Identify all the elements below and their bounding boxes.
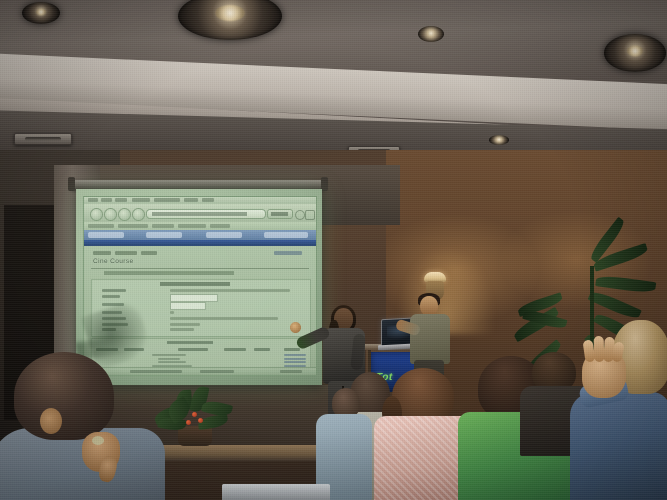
table-column-header[interactable] (284, 348, 300, 351)
foreground-right-hand (582, 350, 626, 398)
presenter-hand (290, 322, 301, 333)
form-value (170, 311, 174, 314)
foreground-man-hair (14, 352, 114, 440)
form-value (170, 323, 200, 326)
plant-pot (178, 426, 212, 446)
search-icon[interactable] (295, 210, 305, 220)
conference-room-photo: Cine Course (0, 0, 667, 500)
form-value (170, 289, 290, 292)
tab-administration[interactable] (264, 232, 308, 238)
operator-head (420, 296, 438, 316)
title-divider (91, 268, 309, 269)
row-action-link[interactable] (284, 361, 306, 363)
row-action-link[interactable] (284, 354, 306, 356)
table-title (167, 341, 213, 344)
foreground-man-ear (40, 408, 62, 434)
denim-jacket (570, 392, 667, 500)
row-action-link[interactable] (284, 358, 306, 360)
screen-roller-housing (72, 180, 324, 189)
address-bar[interactable] (146, 209, 266, 219)
form-label (102, 295, 120, 298)
form-input[interactable] (170, 302, 206, 310)
form-label (102, 289, 126, 292)
audience-member-blue-shirt (332, 388, 372, 500)
home-icon[interactable] (132, 208, 145, 221)
finger (611, 341, 624, 362)
ceiling-spot-light-1 (418, 26, 444, 42)
breadcrumb[interactable] (93, 251, 111, 255)
page-title: Cine Course (93, 258, 134, 265)
operator-torso (410, 314, 450, 364)
form-input[interactable] (170, 294, 218, 302)
plant-berry (198, 418, 203, 423)
print-icon[interactable] (305, 210, 315, 220)
audience-laptop[interactable] (222, 484, 330, 500)
form-value (170, 317, 278, 320)
plant-berry (186, 420, 191, 425)
table-column-header[interactable] (254, 348, 270, 351)
form-value (170, 328, 194, 331)
forward-icon[interactable] (104, 208, 117, 221)
back-icon[interactable] (90, 208, 103, 221)
search-button[interactable] (267, 209, 293, 219)
browser-navbar[interactable] (84, 204, 316, 223)
table-column-header[interactable] (224, 348, 246, 351)
breadcrumb-2[interactable] (115, 251, 137, 255)
foreground-man (0, 352, 180, 500)
ceiling-can-light-3 (604, 34, 666, 72)
tab-enrolment[interactable] (146, 232, 182, 238)
glasses-icon (92, 436, 104, 445)
palm-frond (595, 274, 656, 294)
reload-icon[interactable] (118, 208, 131, 221)
foreground-right-person (572, 320, 667, 500)
tab-reports[interactable] (206, 232, 242, 238)
plant-berry (192, 412, 197, 417)
page-user-link[interactable] (274, 251, 302, 255)
table-column-header[interactable] (178, 348, 208, 351)
ceiling-spot-light-2 (489, 135, 509, 145)
form-section-title (160, 282, 230, 286)
breadcrumb-3[interactable] (141, 251, 157, 255)
page-subtitle (104, 271, 234, 275)
ceiling-can-light-2 (22, 2, 60, 24)
track-light-icon (14, 133, 72, 145)
tab-course-overview[interactable] (88, 232, 124, 238)
